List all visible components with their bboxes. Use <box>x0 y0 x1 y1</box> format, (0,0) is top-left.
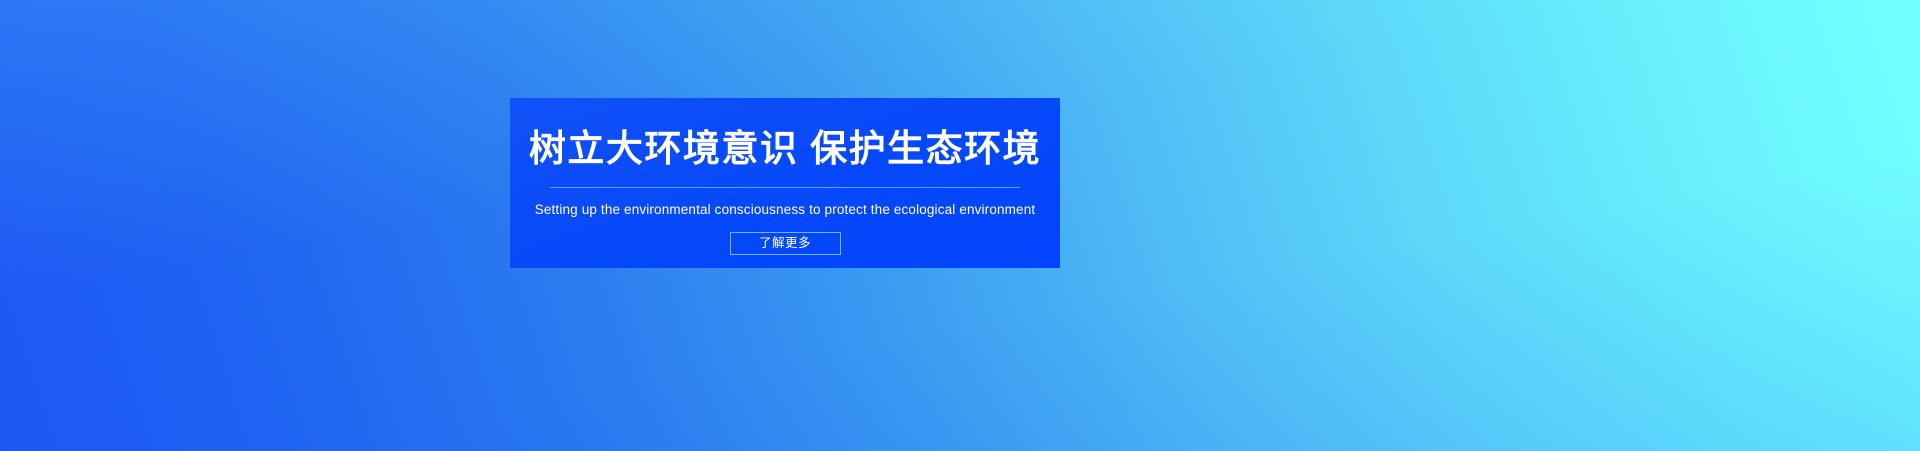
learn-more-button[interactable]: 了解更多 <box>730 232 841 255</box>
banner-headline: 树立大环境意识 保护生态环境 <box>529 130 1041 167</box>
banner-card: 树立大环境意识 保护生态环境 Setting up the environmen… <box>510 98 1060 268</box>
banner-divider <box>550 187 1020 188</box>
banner-subtitle: Setting up the environmental consciousne… <box>535 203 1036 218</box>
banner-hero: 树立大环境意识 保护生态环境 Setting up the environmen… <box>0 0 1920 451</box>
